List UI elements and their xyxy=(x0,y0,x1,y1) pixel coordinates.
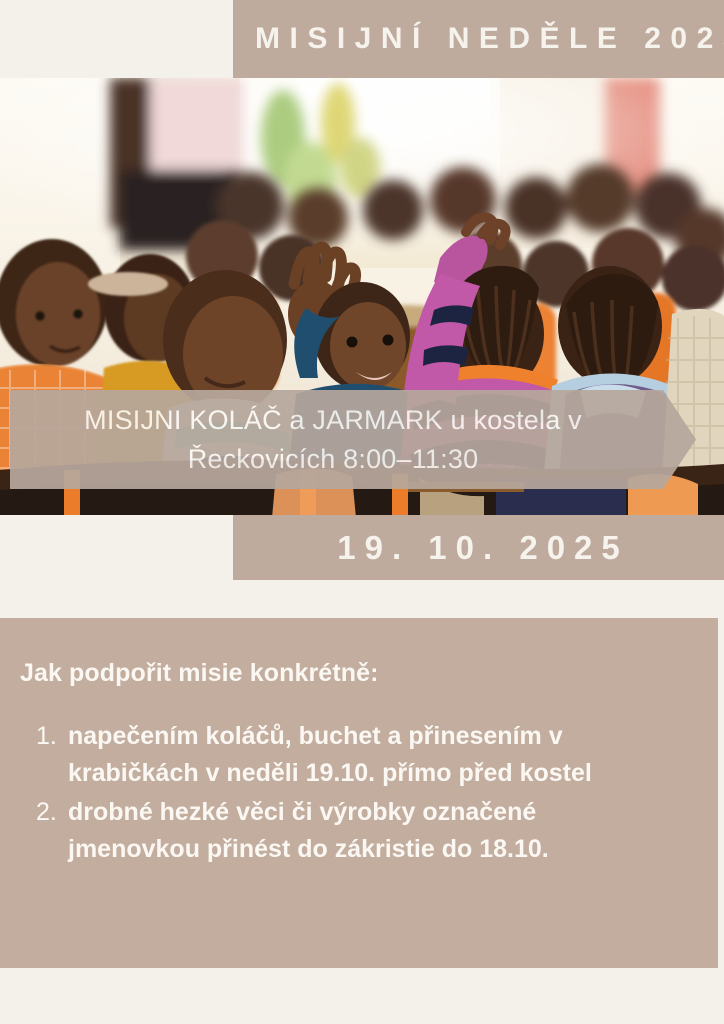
banner-line-2: Řeckovicích 8:00–11:30 xyxy=(188,440,479,478)
page-title: MISIJNÍ NEDĚLE 2025 xyxy=(255,24,724,54)
list-item: napečením koláčů, buchet a přinesením v … xyxy=(36,718,692,791)
list-item-line-1: napečením koláčů, buchet a přinesením v xyxy=(68,718,692,755)
poster-root: MISIJNÍ NEDĚLE 2025 xyxy=(0,0,724,1024)
date-band: 19. 10. 2025 xyxy=(233,515,724,580)
support-info-block: Jak podpořit misie konkrétně: napečením … xyxy=(0,618,718,968)
list-item: drobné hezké věci či výrobky označené jm… xyxy=(36,794,692,867)
banner-line-1: MISIJNI KOLÁČ a JARMARK u kostela v xyxy=(84,401,582,439)
info-heading: Jak podpořit misie konkrétně: xyxy=(20,658,692,688)
support-steps-list: napečením koláčů, buchet a přinesením v … xyxy=(36,718,692,867)
header-bar: MISIJNÍ NEDĚLE 2025 xyxy=(233,0,724,78)
list-item-line-2: jmenovkou přinést do zákristie do 18.10. xyxy=(68,831,692,868)
event-banner: MISIJNI KOLÁČ a JARMARK u kostela v Řeck… xyxy=(10,390,696,489)
event-date: 19. 10. 2025 xyxy=(328,531,629,564)
list-item-line-1: drobné hezké věci či výrobky označené xyxy=(68,794,692,831)
list-item-line-2: krabičkách v neděli 19.10. přímo před ko… xyxy=(68,755,692,792)
